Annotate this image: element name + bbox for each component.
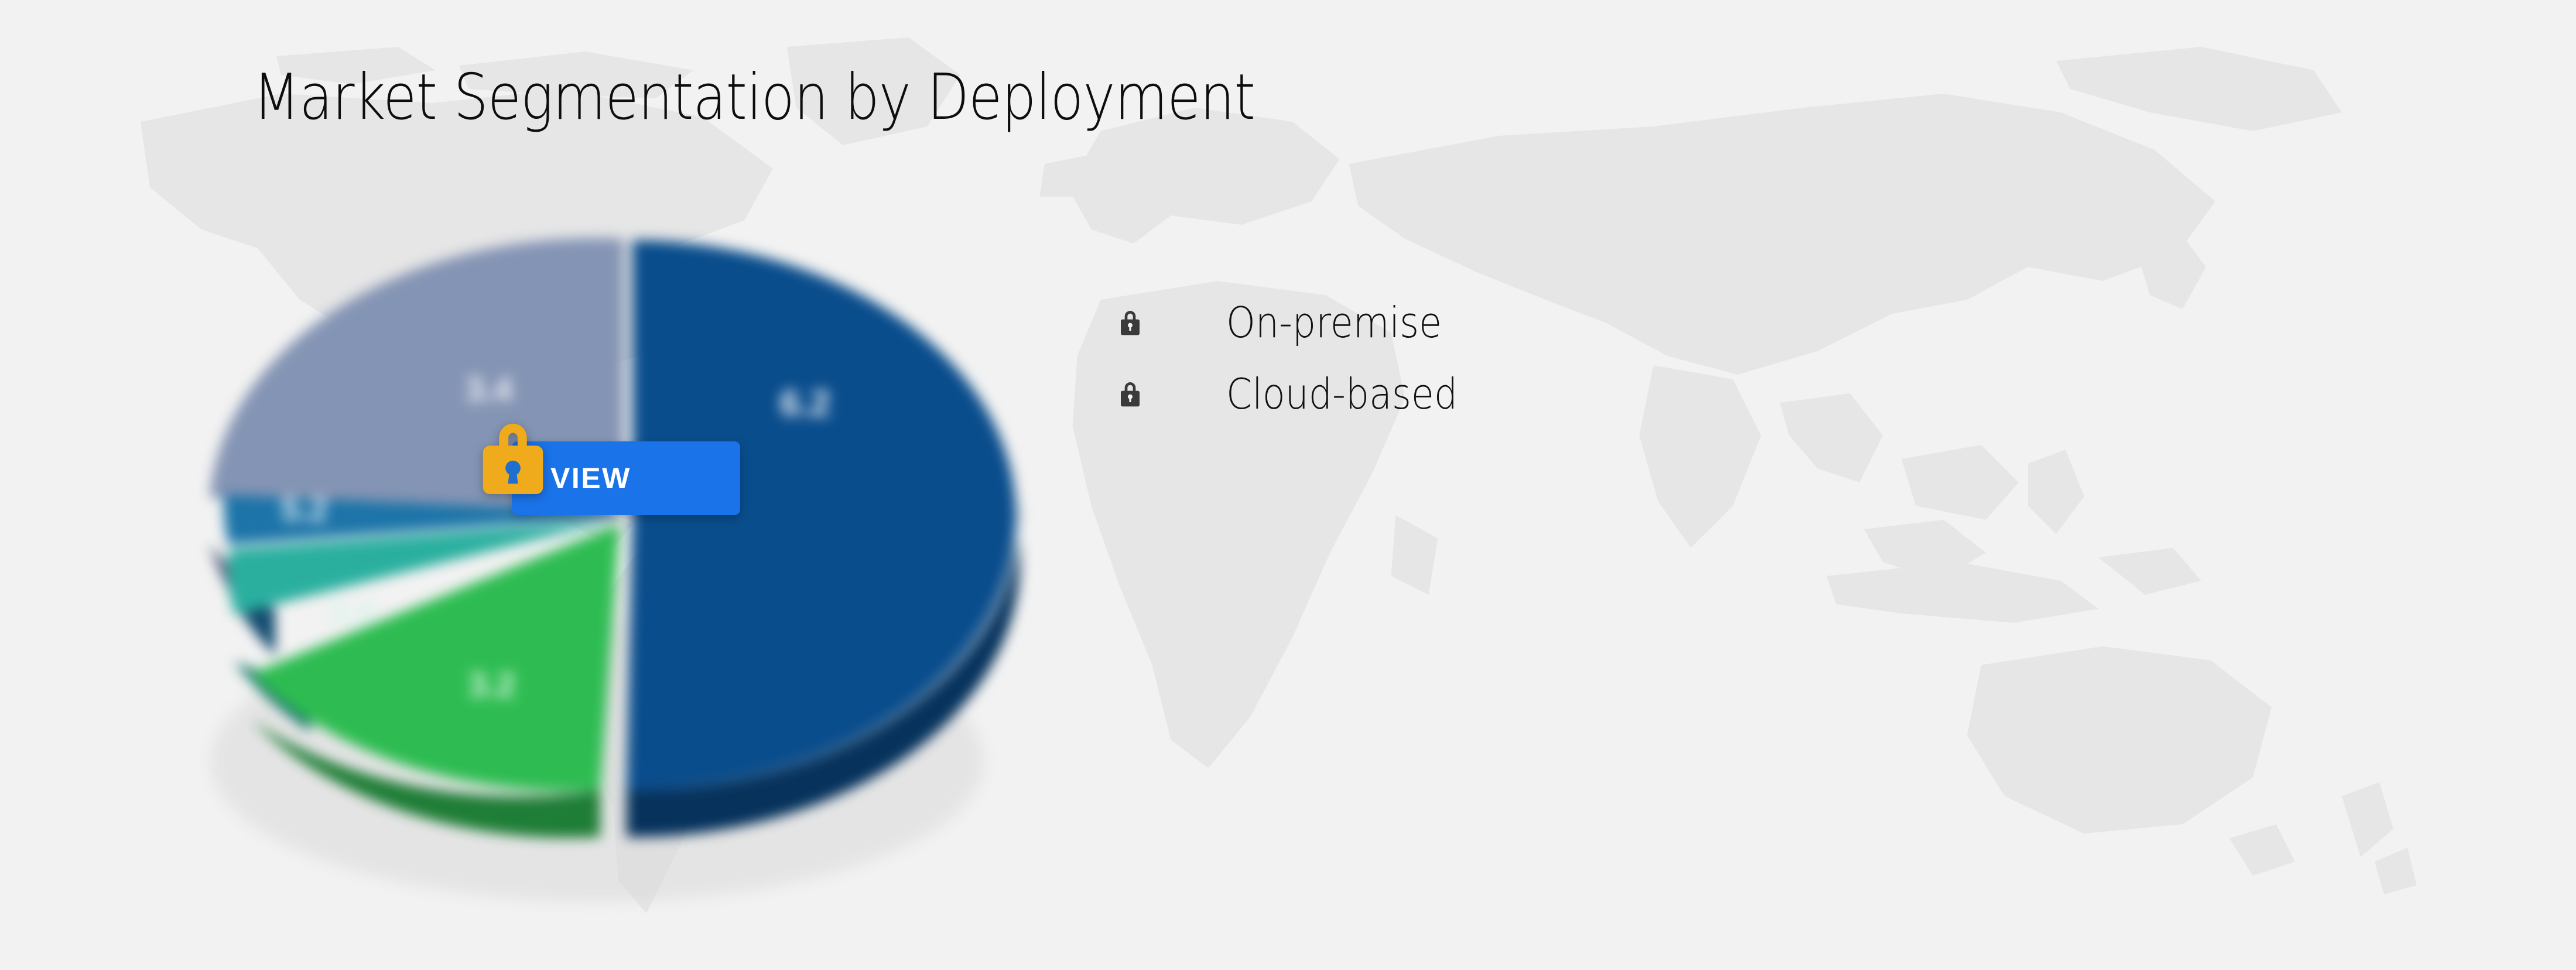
padlock-icon (1117, 380, 1143, 408)
locked-content-overlay: VIEW (475, 413, 798, 513)
legend-item-on-premise[interactable]: On-premise (1117, 287, 1489, 358)
pie-chart-svg: 6.2 3.4 5.2 3.4 3.2 (164, 170, 1054, 907)
chart-legend: On-premise Cloud-based (1117, 287, 1489, 430)
slice-label-3: 3.4 (328, 593, 375, 631)
padlock-icon (475, 413, 550, 496)
slice-label-4: 5.2 (281, 491, 329, 529)
chart-slide: Market Segmentation by Deployment (0, 0, 2576, 970)
slice-label-2: 3.2 (468, 666, 516, 704)
legend-item-label: On-premise (1226, 298, 1442, 347)
legend-item-cloud-based[interactable]: Cloud-based (1117, 358, 1489, 430)
padlock-icon (1117, 309, 1143, 337)
slice-label-5: 3.4 (466, 371, 513, 409)
page-title: Market Segmentation by Deployment (253, 61, 1255, 134)
legend-item-label: Cloud-based (1226, 369, 1458, 419)
pie-chart: 6.2 3.4 5.2 3.4 3.2 (164, 170, 1054, 907)
